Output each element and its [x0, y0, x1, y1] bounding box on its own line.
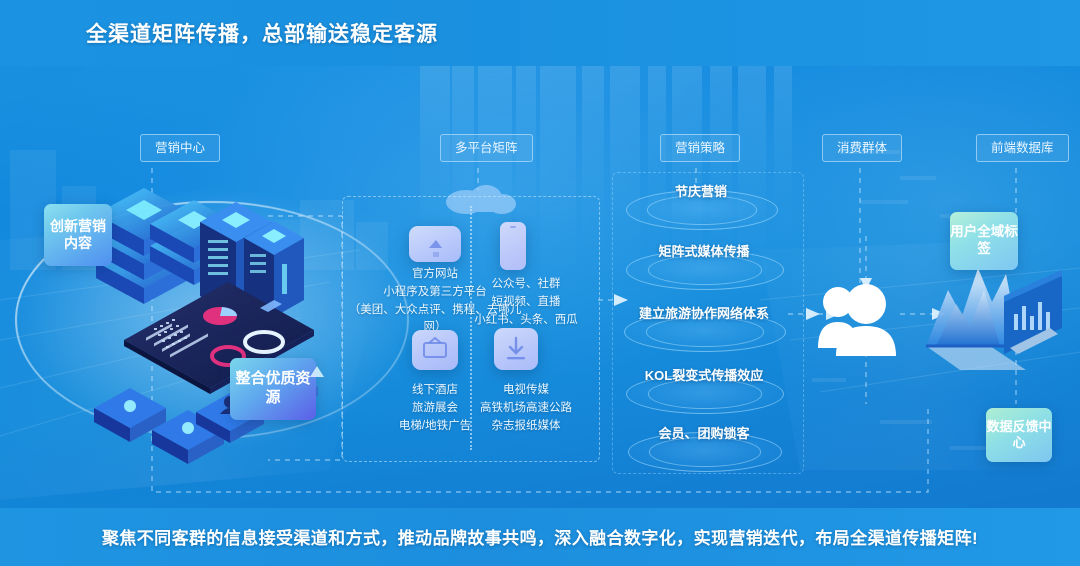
column-header-frontend-database[interactable]: 前端数据库: [976, 134, 1069, 162]
strategy-label: 节庆营销: [626, 181, 776, 200]
label-quality-resources[interactable]: 整合优质资源: [230, 358, 316, 420]
caption-line: 杂志报纸媒体: [466, 418, 586, 436]
page-title: 全渠道矩阵传播，总部输送稳定客源: [86, 18, 438, 48]
caption-line: 电视传媒: [466, 382, 586, 400]
user-group-glyph: [812, 276, 904, 360]
slide-canvas: 全渠道矩阵传播，总部输送稳定客源 营销中心 多平台矩阵 营销策略 消费群体 前端…: [0, 0, 1080, 566]
platform-caption-traditional-media: 电视传媒 高铁机场高速公路 杂志报纸媒体: [466, 382, 586, 435]
caption-line: 公众号、社群: [466, 276, 586, 294]
platform-caption-social-media: 公众号、社群 短视频、直播 小红书、头条、西瓜: [466, 276, 586, 329]
strategy-label: KOL裂变式传播效应: [626, 365, 782, 384]
tv-glyph: [412, 330, 458, 370]
download-glyph: [494, 328, 538, 370]
column-header-marketing-strategy[interactable]: 营销策略: [660, 134, 740, 162]
phone-glyph: [500, 222, 526, 270]
chart-mountain-icon: [926, 268, 1062, 370]
strategy-label: 矩阵式媒体传播: [626, 241, 782, 260]
caption-line: 小红书、头条、西瓜: [466, 312, 586, 330]
monitor-glyph: [409, 226, 461, 262]
column-header-consumer-group[interactable]: 消费群体: [822, 134, 902, 162]
caption-line: 高铁机场高速公路: [466, 400, 586, 418]
label-innovative-content[interactable]: 创新营销内容: [44, 204, 112, 266]
label-data-feedback[interactable]: 数据反馈中心: [986, 408, 1052, 462]
user-group-icon: [812, 276, 904, 360]
label-innovative-content-text: 创新营销内容: [44, 218, 112, 253]
strategy-label: 会员、团购锁客: [628, 423, 780, 442]
caption-line: 短视频、直播: [466, 294, 586, 312]
tv-icon[interactable]: [412, 330, 458, 370]
strategy-label: 建立旅游协作网络体系: [624, 303, 784, 322]
label-user-tags[interactable]: 用户全域标签: [950, 212, 1018, 270]
phone-icon[interactable]: [500, 222, 526, 270]
triangle-marker-icon: [310, 366, 324, 377]
strategy-tourism-network[interactable]: 建立旅游协作网络体系: [624, 312, 784, 350]
strategy-member-groupbuy[interactable]: 会员、团购锁客: [628, 432, 780, 470]
footer-text: 聚焦不同客群的信息接受渠道和方式，推动品牌故事共鸣，深入融合数字化，实现营销迭代…: [0, 524, 1080, 549]
label-data-feedback-text: 数据反馈中心: [986, 419, 1052, 452]
download-icon[interactable]: [494, 328, 538, 370]
label-user-tags-text: 用户全域标签: [950, 224, 1018, 258]
column-header-marketing-center[interactable]: 营销中心: [140, 134, 220, 162]
label-quality-resources-text: 整合优质资源: [230, 370, 316, 408]
monitor-icon[interactable]: [409, 226, 461, 262]
strategy-kol-fission[interactable]: KOL裂变式传播效应: [626, 374, 782, 412]
strategy-matrix-media-spread[interactable]: 矩阵式媒体传播: [626, 250, 782, 288]
isometric-server-icon: [94, 188, 318, 464]
strategy-festival-marketing[interactable]: 节庆营销: [626, 190, 776, 228]
column-header-multi-platform-matrix[interactable]: 多平台矩阵: [440, 134, 533, 162]
